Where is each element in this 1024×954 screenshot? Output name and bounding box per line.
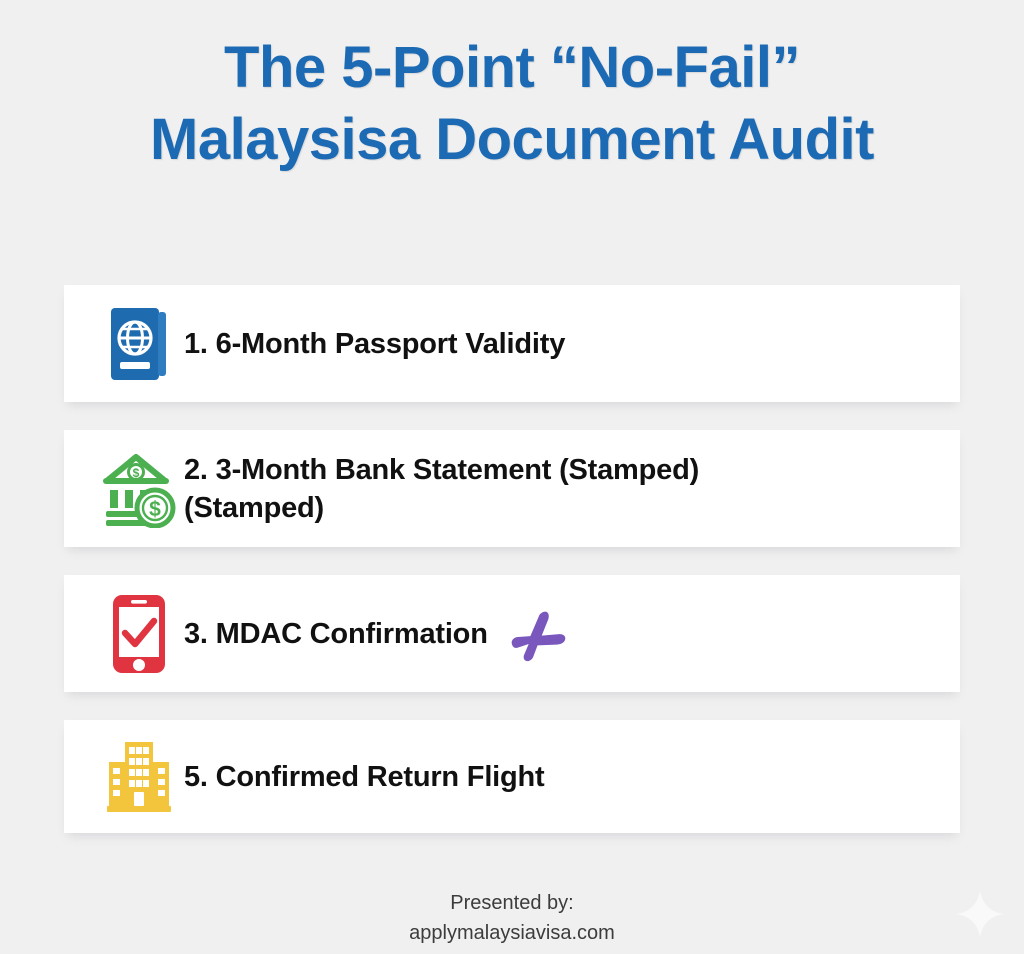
list-item[interactable]: $ $ 2. 3-Month Bank Statement (Stamped) …	[64, 430, 960, 547]
bank-money-icon: $ $	[96, 446, 182, 532]
list-item-label: 5. Confirmed Return Flight	[182, 758, 545, 796]
presented-by-label: Presented by:	[0, 888, 1024, 918]
page-title-line-2: Malaysisa Document Audit	[0, 104, 1024, 176]
list-item-label: 2. 3-Month Bank Statement (Stamped) (Sta…	[182, 451, 804, 527]
sparkle-icon	[954, 888, 1006, 940]
airplane-icon	[506, 605, 568, 663]
svg-text:$: $	[133, 466, 140, 480]
website-label: applymalaysiavisa.com	[0, 918, 1024, 948]
list-item-label: 1. 6-Month Passport Validity	[182, 325, 565, 363]
list-item[interactable]: 5. Confirmed Return Flight	[64, 720, 960, 833]
list-item-label: 3. MDAC Confirmation	[182, 605, 568, 663]
mobile-check-icon	[96, 591, 182, 677]
svg-text:$: $	[149, 498, 161, 521]
page-title-line-1: The 5-Point “No-Fail”	[0, 32, 1024, 104]
list-item-label-text: 3. MDAC Confirmation	[184, 615, 488, 653]
footer: Presented by: applymalaysiavisa.com	[0, 888, 1024, 948]
page-title: The 5-Point “No-Fail” Malaysisa Document…	[0, 32, 1024, 176]
list-item[interactable]: 1. 6-Month Passport Validity	[64, 285, 960, 402]
building-icon	[96, 734, 182, 820]
checklist: 1. 6-Month Passport Validity $ $ 2. 3-Mo…	[64, 285, 960, 861]
list-item[interactable]: 3. MDAC Confirmation	[64, 575, 960, 692]
passport-icon	[96, 301, 182, 387]
